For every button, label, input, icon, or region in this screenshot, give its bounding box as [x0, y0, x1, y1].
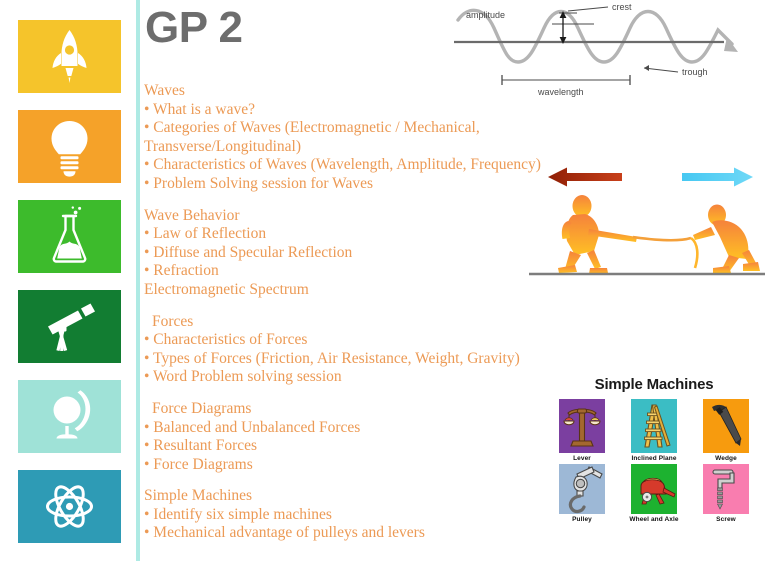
simple-machine-label: Wedge — [715, 455, 737, 462]
bullet-line: • Identify six simple machines — [144, 506, 614, 525]
inclined-plane-icon — [631, 399, 677, 453]
simple-machine-pulley: Pulley — [548, 464, 616, 523]
telescope-icon — [18, 290, 121, 363]
sidebar-item-lightbulb[interactable] — [18, 110, 121, 183]
wheel-and-axle-icon — [631, 464, 677, 514]
simple-machines-title: Simple Machines — [548, 376, 760, 393]
tug-person-left — [558, 195, 637, 274]
block-spacer — [144, 387, 614, 400]
bullet-line: • Word Problem solving session — [144, 368, 614, 387]
sidebar-item-flask[interactable] — [18, 200, 121, 273]
globe-icon — [18, 380, 121, 453]
simple-machine-inclined-plane: Inclined Plane — [620, 399, 688, 462]
bullet-line: Transverse/Longitudinal) — [144, 138, 614, 157]
bullet-line: Electromagnetic Spectrum — [144, 281, 614, 300]
simple-machine-label: Wheel and Axle — [629, 516, 678, 523]
rope — [633, 237, 691, 240]
flask-icon — [18, 200, 121, 273]
content-block-simple-machines: Simple Machines • Identify six simple ma… — [144, 487, 614, 543]
slide-canvas: GP 2 Waves • What is a wave? • Categorie… — [0, 0, 768, 561]
simple-machines-grid: Lever — [548, 399, 760, 523]
simple-machines-panel: Simple Machines — [548, 376, 760, 558]
simple-machine-screw: Screw — [692, 464, 760, 523]
tug-of-war-illustration — [515, 165, 768, 280]
vertical-divider — [136, 0, 140, 561]
simple-machine-lever: Lever — [548, 399, 616, 462]
simple-machine-label: Pulley — [572, 516, 592, 523]
wavelength-label: wavelength — [537, 87, 584, 97]
simple-machine-wedge: Wedge — [692, 399, 760, 462]
page-title: GP 2 — [145, 6, 242, 50]
sidebar-item-globe[interactable] — [18, 380, 121, 453]
bullet-line: • Force Diagrams — [144, 456, 614, 475]
bullet-line: • Resultant Forces — [144, 437, 614, 456]
bullet-line: • Categories of Waves (Electromagnetic /… — [144, 119, 614, 138]
crest-label: crest — [612, 2, 632, 12]
atom-icon — [18, 470, 121, 543]
content-outline: Waves • What is a wave? • Categories of … — [144, 82, 614, 543]
amplitude-label: amplitude — [466, 10, 505, 20]
lightbulb-icon — [18, 110, 121, 183]
bullet-line: • Balanced and Unbalanced Forces — [144, 419, 614, 438]
content-block-forces: Forces • Characteristics of Forces • Typ… — [144, 313, 614, 387]
bullet-line: • Mechanical advantage of pulleys and le… — [144, 524, 614, 543]
simple-machine-label: Inclined Plane — [631, 455, 676, 462]
block-heading: Force Diagrams — [144, 400, 614, 419]
screw-icon — [703, 464, 749, 514]
icon-rail — [0, 0, 136, 561]
block-spacer — [144, 300, 614, 313]
pulley-icon — [559, 464, 605, 514]
rocket-icon — [18, 20, 121, 93]
block-spacer — [144, 474, 614, 487]
simple-machine-label: Lever — [573, 455, 591, 462]
bullet-line: • What is a wave? — [144, 101, 614, 120]
lever-icon — [559, 399, 605, 453]
simple-machine-label: Screw — [716, 516, 736, 523]
right-force-arrow — [682, 168, 753, 187]
trough-label: trough — [682, 67, 708, 77]
block-heading: Forces — [144, 313, 614, 332]
bullet-line: • Characteristics of Forces — [144, 331, 614, 350]
left-force-arrow — [548, 168, 622, 187]
wedge-icon — [703, 399, 749, 453]
content-block-force-diagrams: Force Diagrams • Balanced and Unbalanced… — [144, 400, 614, 474]
sidebar-item-telescope[interactable] — [18, 290, 121, 363]
tug-person-right — [693, 205, 760, 274]
sidebar-item-atom[interactable] — [18, 470, 121, 543]
wave-diagram: amplitude crest trough wavelength — [446, 0, 768, 100]
block-heading: Simple Machines — [144, 487, 614, 506]
simple-machine-wheel-and-axle: Wheel and Axle — [620, 464, 688, 523]
bullet-line: • Types of Forces (Friction, Air Resista… — [144, 350, 614, 369]
sidebar-item-rocket[interactable] — [18, 20, 121, 93]
